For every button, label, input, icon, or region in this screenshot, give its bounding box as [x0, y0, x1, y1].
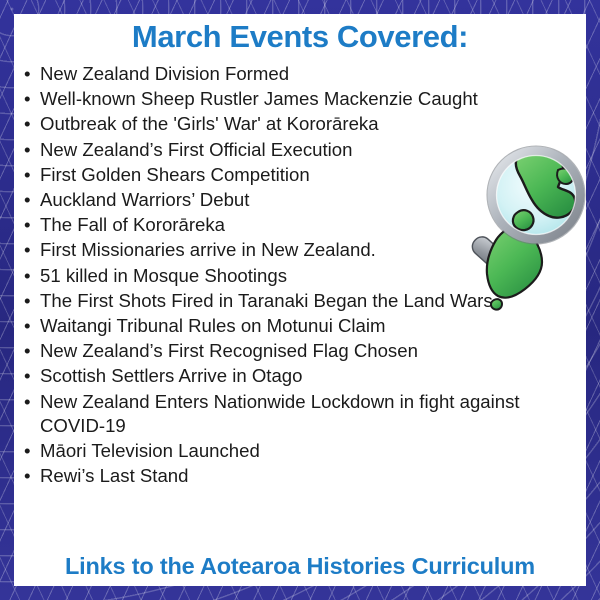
poster: March Events Covered: •New Zealand Divis… — [0, 0, 600, 600]
list-item-label: The Fall of Kororāreka — [40, 213, 560, 237]
list-item: •Well-known Sheep Rustler James Mackenzi… — [18, 87, 580, 111]
bullet-icon: • — [24, 464, 31, 488]
list-item: •New Zealand’s First Official Execution — [18, 138, 580, 162]
list-item: •New Zealand’s First Recognised Flag Cho… — [18, 339, 580, 363]
list-item-label: Māori Television Launched — [40, 439, 560, 463]
bullet-icon: • — [24, 163, 31, 187]
list-item-label: New Zealand’s First Official Execution — [40, 138, 560, 162]
page-title: March Events Covered: — [14, 20, 586, 54]
bullet-icon: • — [24, 62, 31, 86]
bullet-icon: • — [24, 364, 31, 388]
list-item: •The Fall of Kororāreka — [18, 213, 580, 237]
list-item-label: New Zealand’s First Recognised Flag Chos… — [40, 339, 560, 363]
event-list: •New Zealand Division Formed•Well-known … — [18, 62, 580, 489]
list-item-label: First Golden Shears Competition — [40, 163, 560, 187]
list-item: •Māori Television Launched — [18, 439, 580, 463]
list-item: •Outbreak of the 'Girls' War' at Kororār… — [18, 112, 580, 136]
list-item-label: New Zealand Enters Nationwide Lockdown i… — [40, 390, 560, 438]
bullet-icon: • — [24, 188, 31, 212]
list-item: •Auckland Warriors’ Debut — [18, 188, 580, 212]
bullet-icon: • — [24, 339, 31, 363]
bullet-icon: • — [24, 213, 31, 237]
list-item-label: First Missionaries arrive in New Zealand… — [40, 238, 560, 262]
bullet-icon: • — [24, 314, 31, 338]
list-item-label: 51 killed in Mosque Shootings — [40, 264, 560, 288]
list-item-label: Rewi’s Last Stand — [40, 464, 560, 488]
list-item: •Scottish Settlers Arrive in Otago — [18, 364, 580, 388]
list-item: •Rewi’s Last Stand — [18, 464, 580, 488]
bullet-icon: • — [24, 439, 31, 463]
list-item-label: Auckland Warriors’ Debut — [40, 188, 560, 212]
bullet-icon: • — [24, 138, 31, 162]
list-item-label: New Zealand Division Formed — [40, 62, 560, 86]
list-item-label: Waitangi Tribunal Rules on Motunui Claim — [40, 314, 560, 338]
list-item: •51 killed in Mosque Shootings — [18, 264, 580, 288]
list-item-label: The First Shots Fired in Taranaki Began … — [40, 289, 560, 313]
list-item: •Waitangi Tribunal Rules on Motunui Clai… — [18, 314, 580, 338]
list-item: •The First Shots Fired in Taranaki Began… — [18, 289, 580, 313]
list-item: •First Missionaries arrive in New Zealan… — [18, 238, 580, 262]
bullet-icon: • — [24, 289, 31, 313]
content-card: March Events Covered: •New Zealand Divis… — [14, 14, 586, 586]
footer-text: Links to the Aotearoa Histories Curricul… — [14, 553, 586, 580]
list-item-label: Well-known Sheep Rustler James Mackenzie… — [40, 87, 560, 111]
list-item: •New Zealand Division Formed — [18, 62, 580, 86]
list-item-label: Scottish Settlers Arrive in Otago — [40, 364, 560, 388]
list-item: •First Golden Shears Competition — [18, 163, 580, 187]
bullet-icon: • — [24, 390, 31, 414]
list-item: •New Zealand Enters Nationwide Lockdown … — [18, 390, 580, 438]
bullet-icon: • — [24, 238, 31, 262]
bullet-icon: • — [24, 87, 31, 111]
bullet-icon: • — [24, 112, 31, 136]
bullet-icon: • — [24, 264, 31, 288]
list-item-label: Outbreak of the 'Girls' War' at Kororāre… — [40, 112, 560, 136]
